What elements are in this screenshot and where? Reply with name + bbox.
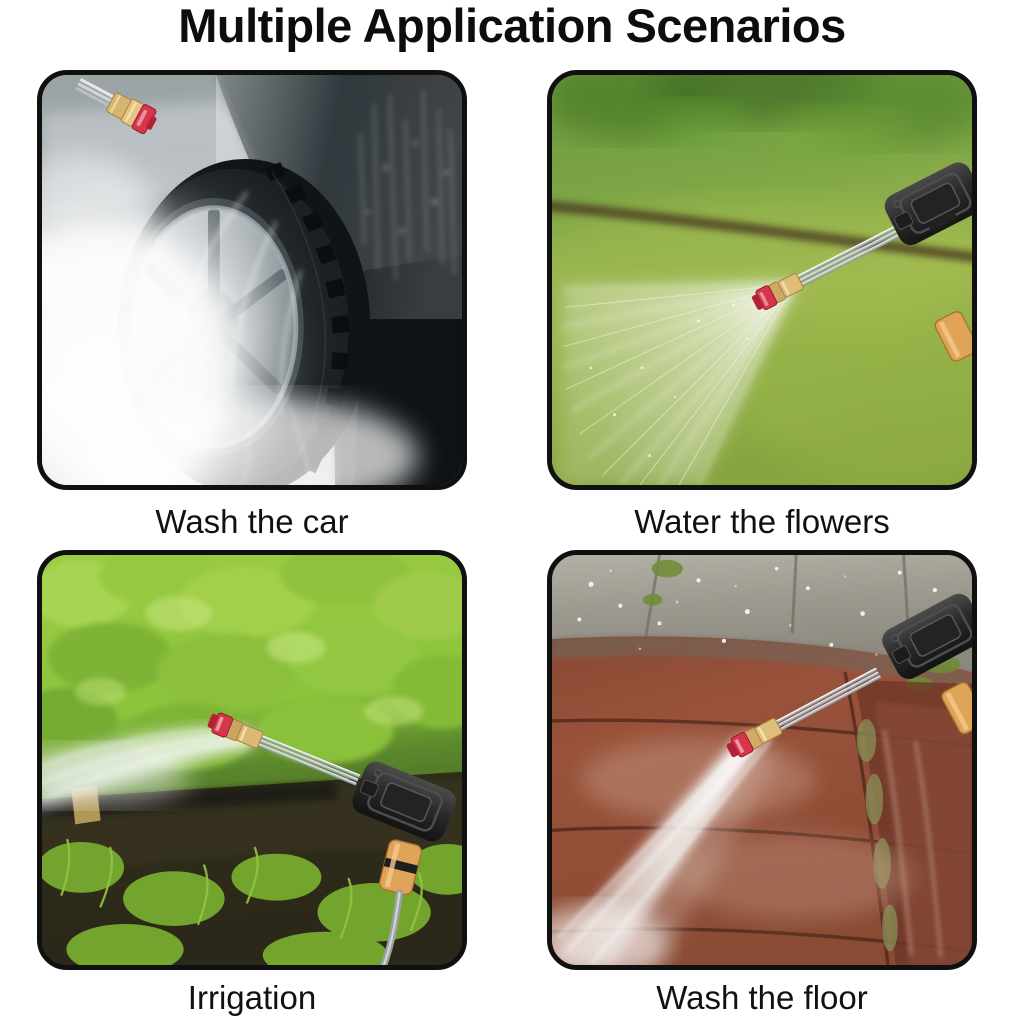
photo-irrigation (37, 550, 467, 970)
scenario-grid: Wash the car (0, 70, 1024, 1024)
page-title: Multiple Application Scenarios (0, 0, 1024, 60)
patio-spray-illustration (552, 555, 972, 965)
scene-car-wheel-pressure-wash (42, 75, 462, 485)
scene-patio-jet-spray (552, 555, 972, 965)
caption-water-the-flowers: Water the flowers (547, 494, 977, 550)
car-wheel-illustration (42, 75, 462, 485)
garden-spray-illustration (42, 555, 462, 965)
caption-wash-the-floor: Wash the floor (547, 970, 977, 1026)
scene-lawn-fan-spray (552, 75, 972, 485)
scenario-card-water-the-flowers: Water the flowers (537, 70, 987, 547)
photo-wash-the-car (37, 70, 467, 490)
photo-water-the-flowers (547, 70, 977, 490)
lawn-spray-illustration (552, 75, 972, 485)
scenario-card-irrigation: Irrigation (37, 550, 487, 1027)
photo-wash-the-floor (547, 550, 977, 970)
scenario-card-wash-the-car: Wash the car (37, 70, 487, 547)
caption-wash-the-car: Wash the car (37, 494, 467, 550)
scene-garden-jet-spray (42, 555, 462, 965)
caption-irrigation: Irrigation (37, 970, 467, 1026)
scenario-card-wash-the-floor: Wash the floor (537, 550, 987, 1027)
